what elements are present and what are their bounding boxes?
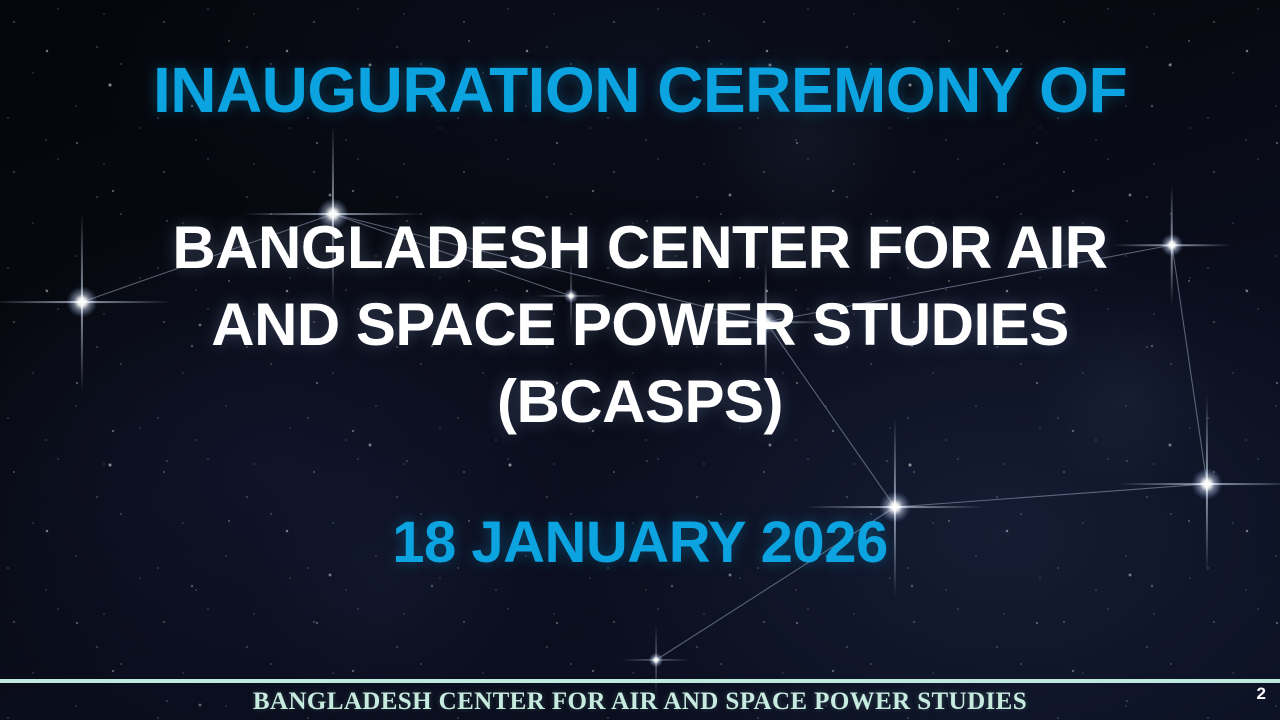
footer-organization-name: BANGLADESH CENTER FOR AIR AND SPACE POWE… (253, 688, 1027, 716)
event-date: 18 JANUARY 2026 (60, 514, 1220, 572)
slide-main-title: BANGLADESH CENTER FOR AIR AND SPACE POWE… (40, 210, 1240, 440)
main-title-line-1: BANGLADESH CENTER FOR AIR (40, 210, 1240, 287)
slide-subtitle-heading: INAUGURATION CEREMONY OF (60, 58, 1220, 122)
main-title-line-3: (BCASPS) (40, 364, 1240, 441)
main-title-line-2: AND SPACE POWER STUDIES (40, 287, 1240, 364)
slide-footer: BANGLADESH CENTER FOR AIR AND SPACE POWE… (0, 683, 1280, 720)
slide-content: INAUGURATION CEREMONY OF BANGLADESH CENT… (0, 0, 1280, 681)
presentation-slide: INAUGURATION CEREMONY OF BANGLADESH CENT… (0, 0, 1280, 720)
slide-page-number: 2 (1257, 684, 1266, 704)
